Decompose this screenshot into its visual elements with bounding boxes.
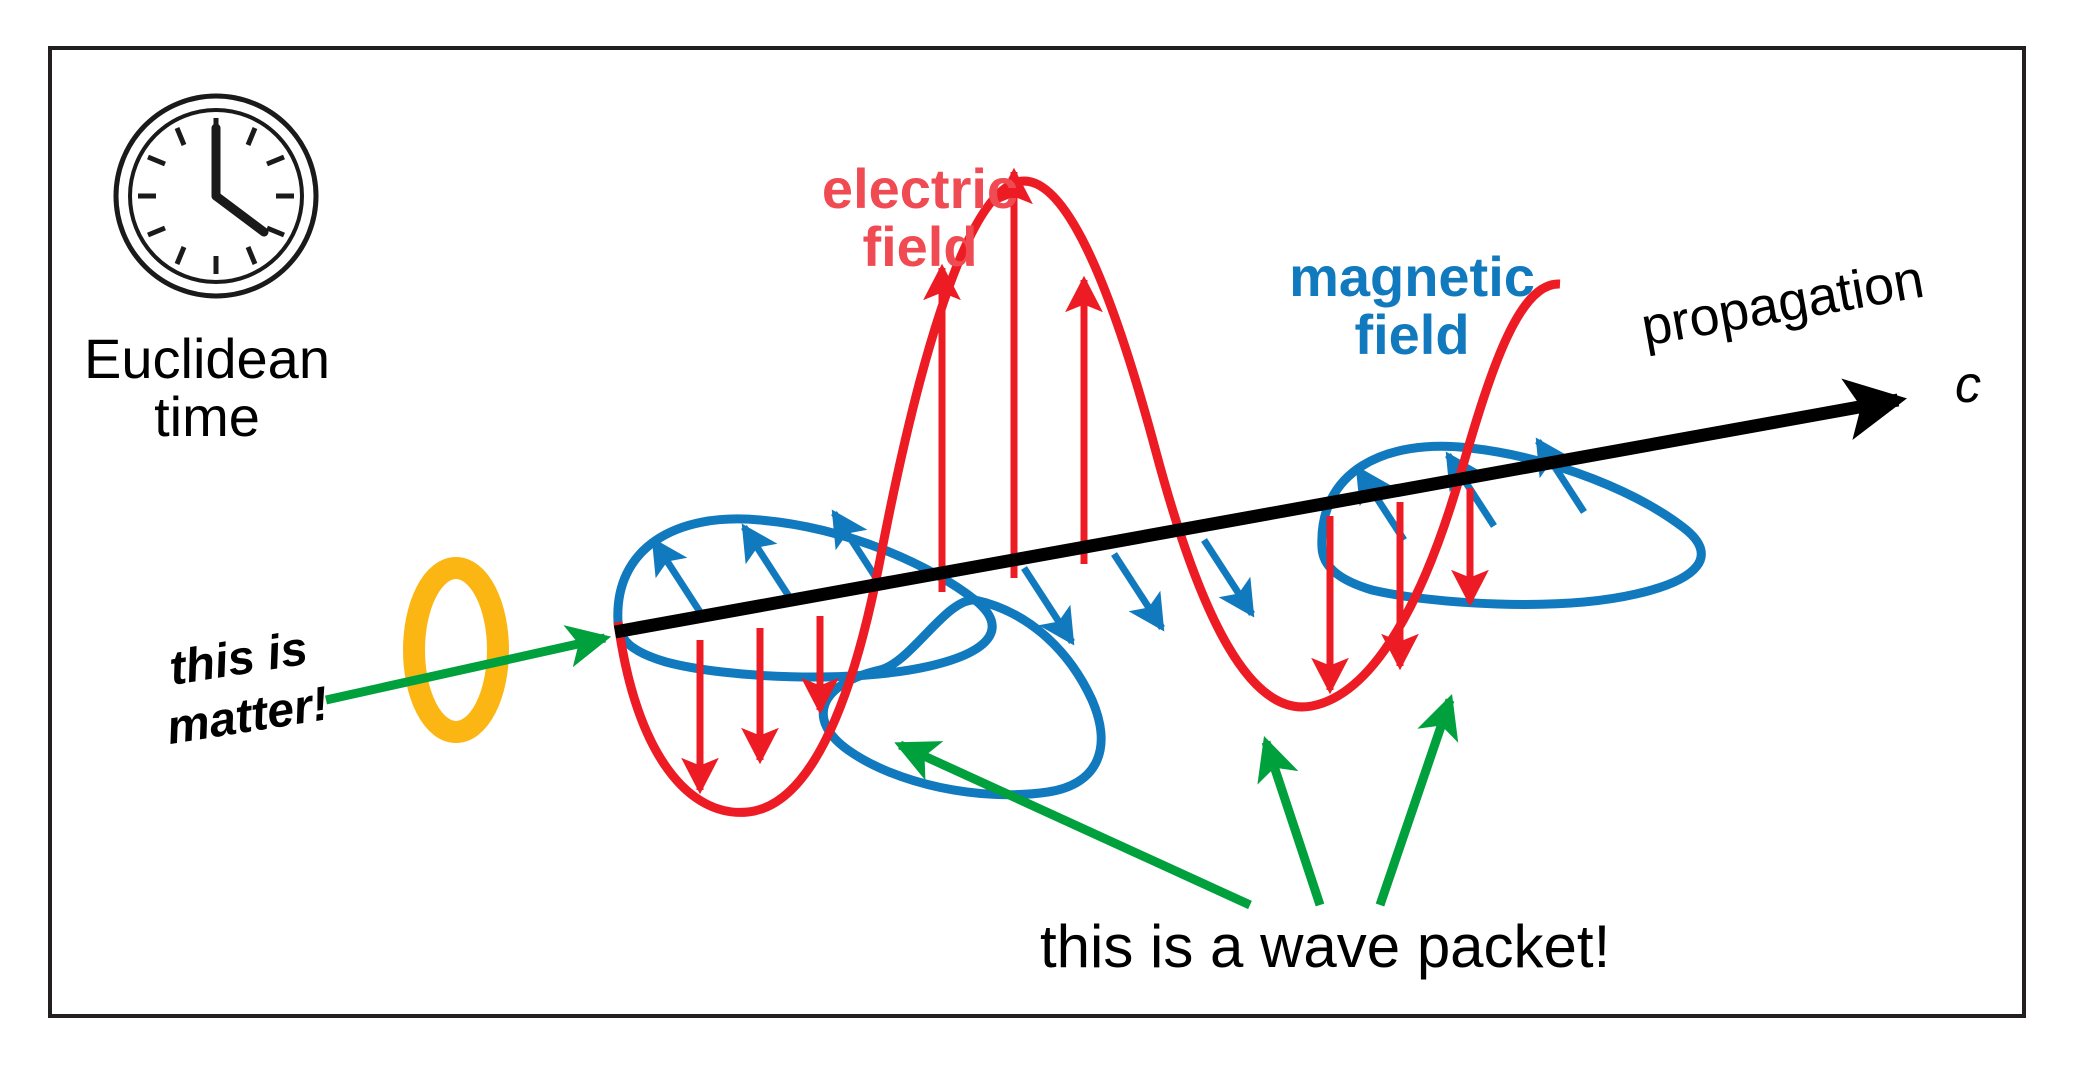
speed-of-light-label: c — [1955, 358, 1981, 412]
electric-field-label: electric field — [770, 160, 1070, 276]
magnetic-field-wave — [618, 441, 1702, 795]
clock-icon — [116, 96, 316, 296]
matter-ring — [414, 568, 498, 732]
magnetic-field-label: magnetic field — [1262, 248, 1562, 364]
euclidean-time-label: Euclidean time — [62, 330, 352, 446]
wave-packet-label: this is a wave packet! — [1040, 916, 1610, 978]
figure-canvas: Euclidean time this is matter! electric … — [0, 0, 2078, 1076]
wave-packet-pointer-arrows — [900, 700, 1450, 905]
propagation-axis — [615, 400, 1898, 632]
